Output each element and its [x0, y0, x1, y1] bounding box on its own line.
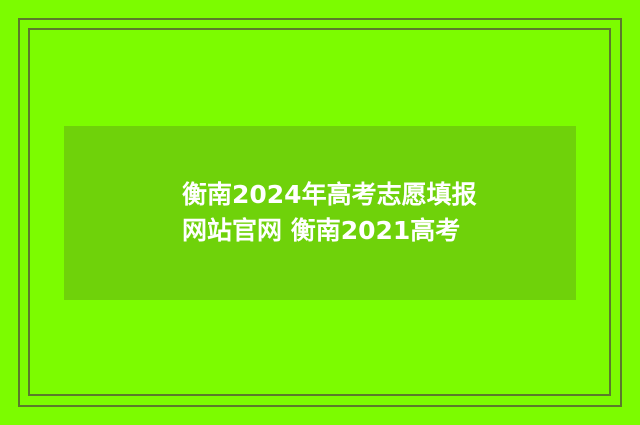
headline-text-block: 衡南2024年高考志愿填报 网站官网 衡南2021高考 [182, 177, 477, 249]
headline-line-1: 衡南2024年高考志愿填报 [182, 177, 477, 213]
banner-canvas: 衡南2024年高考志愿填报 网站官网 衡南2021高考 [0, 0, 640, 425]
content-panel: 衡南2024年高考志愿填报 网站官网 衡南2021高考 [64, 126, 576, 300]
headline-line-2: 网站官网 衡南2021高考 [182, 213, 477, 249]
